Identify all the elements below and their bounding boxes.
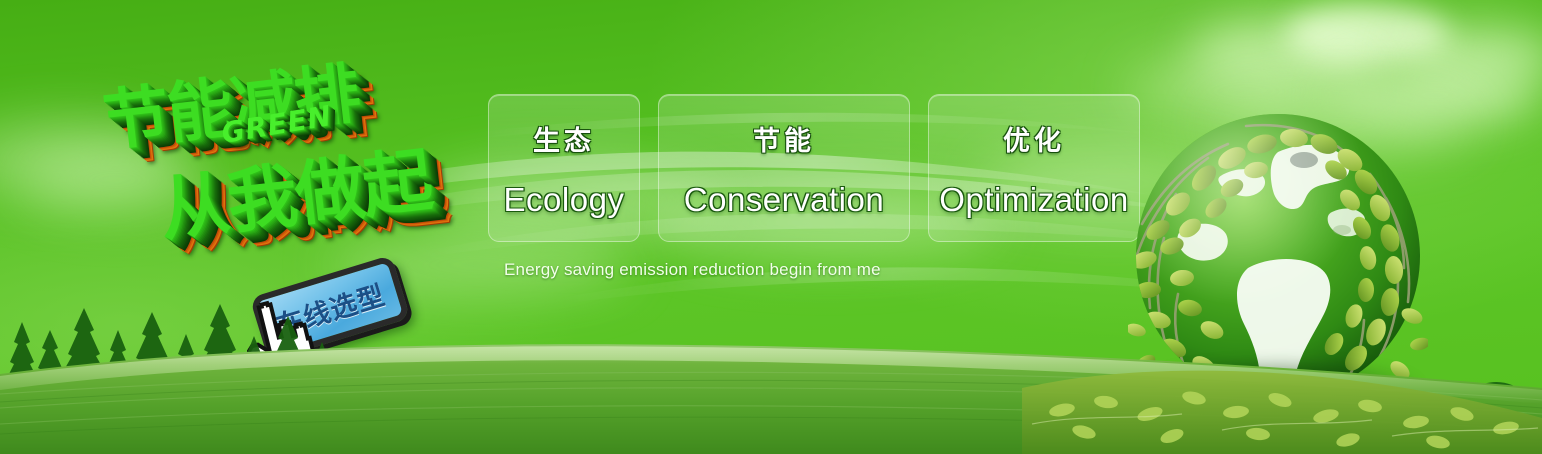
cloud-icon (1285, 4, 1450, 66)
cloud-icon (1190, 18, 1380, 88)
feature-card-list: 生态 Ecology 节能 Conservation 优化 Optimizati… (488, 94, 1140, 242)
title-artwork-3d: 节能减排 GREEN 从我做起 (85, 21, 487, 278)
eco-banner: 节能减排 GREEN 从我做起 在线选型 生态 Ecology 节能 Conse… (0, 0, 1542, 454)
feature-card-cn-label: 生态 (533, 119, 595, 158)
cloud-icon (1400, 26, 1542, 86)
fallen-leaves-icon (1022, 344, 1542, 454)
feature-card-en-label: Ecology (504, 181, 625, 219)
feature-card-en-label: Optimization (939, 181, 1128, 219)
feature-card-ecology[interactable]: 生态 Ecology (488, 94, 640, 242)
feature-card-cn-label: 节能 (753, 119, 815, 158)
feature-card-en-label: Conservation (684, 181, 884, 219)
tagline: Energy saving emission reduction begin f… (504, 260, 881, 280)
feature-card-cn-label: 优化 (1003, 119, 1065, 158)
feature-card-optimization[interactable]: 优化 Optimization (928, 94, 1140, 242)
feature-card-conservation[interactable]: 节能 Conservation (658, 94, 910, 242)
